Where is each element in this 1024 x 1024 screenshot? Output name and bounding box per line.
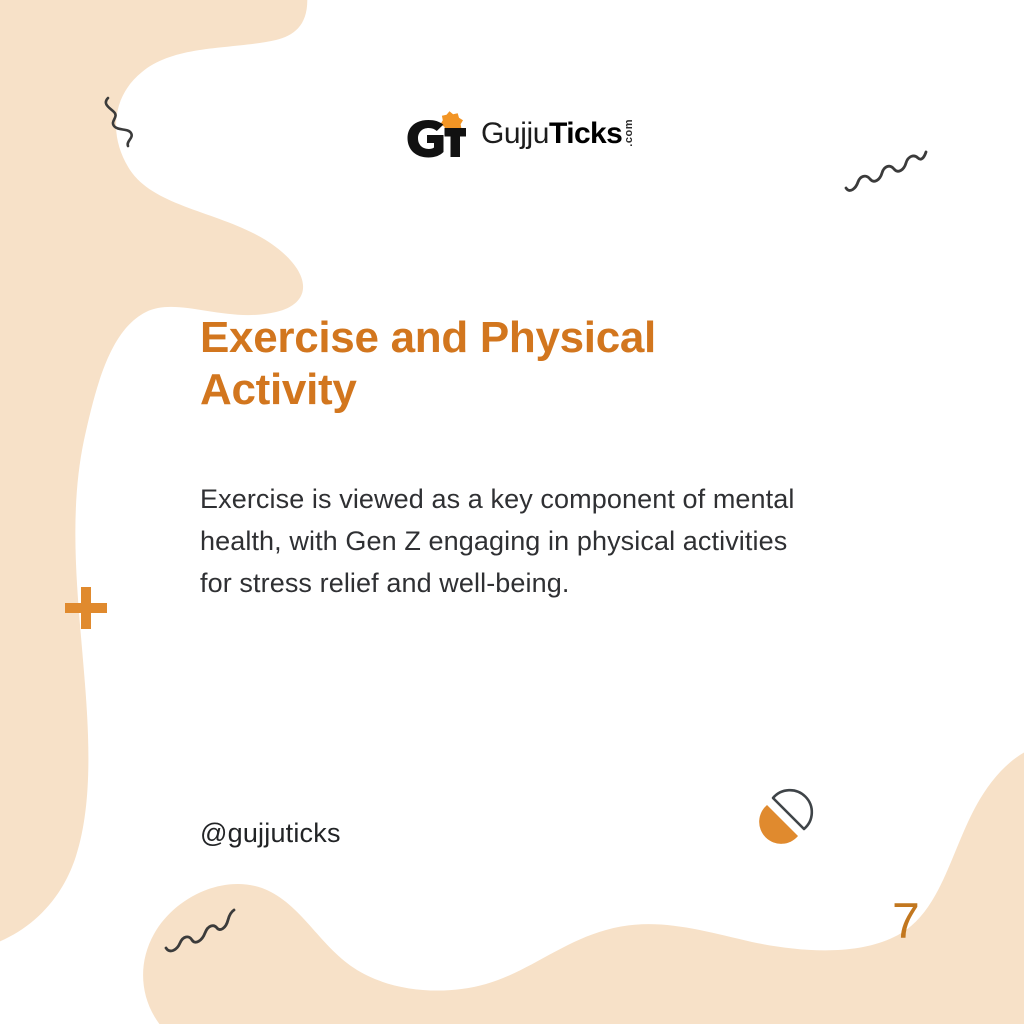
plus-icon: [62, 584, 110, 632]
social-handle: @gujjuticks: [200, 818, 341, 849]
page-number: 7: [892, 896, 920, 946]
brand-wordmark: Gujju Ticks .com: [481, 119, 635, 149]
squiggle-bottom-left-icon: [160, 898, 238, 956]
social-post-slide: Gujju Ticks .com Exercise and Physical A…: [0, 0, 1024, 1024]
squiggle-top-right-icon: [840, 138, 934, 194]
wordmark-light-part: Gujju: [481, 119, 549, 149]
brand-logo[interactable]: Gujju Ticks .com: [406, 108, 635, 160]
wordmark-bold-part: Ticks: [549, 119, 622, 149]
wordmark-tld: .com: [624, 119, 635, 147]
page-title: Exercise and Physical Activity: [200, 312, 760, 416]
peach-blob-bottom-right: [143, 740, 1024, 1024]
gt-monogram-icon: [406, 109, 468, 159]
peach-blob-top-left: [0, 0, 307, 952]
squiggle-top-left-icon: [100, 92, 162, 154]
half-circle-icon: [757, 784, 819, 846]
body-paragraph: Exercise is viewed as a key component of…: [200, 478, 810, 604]
